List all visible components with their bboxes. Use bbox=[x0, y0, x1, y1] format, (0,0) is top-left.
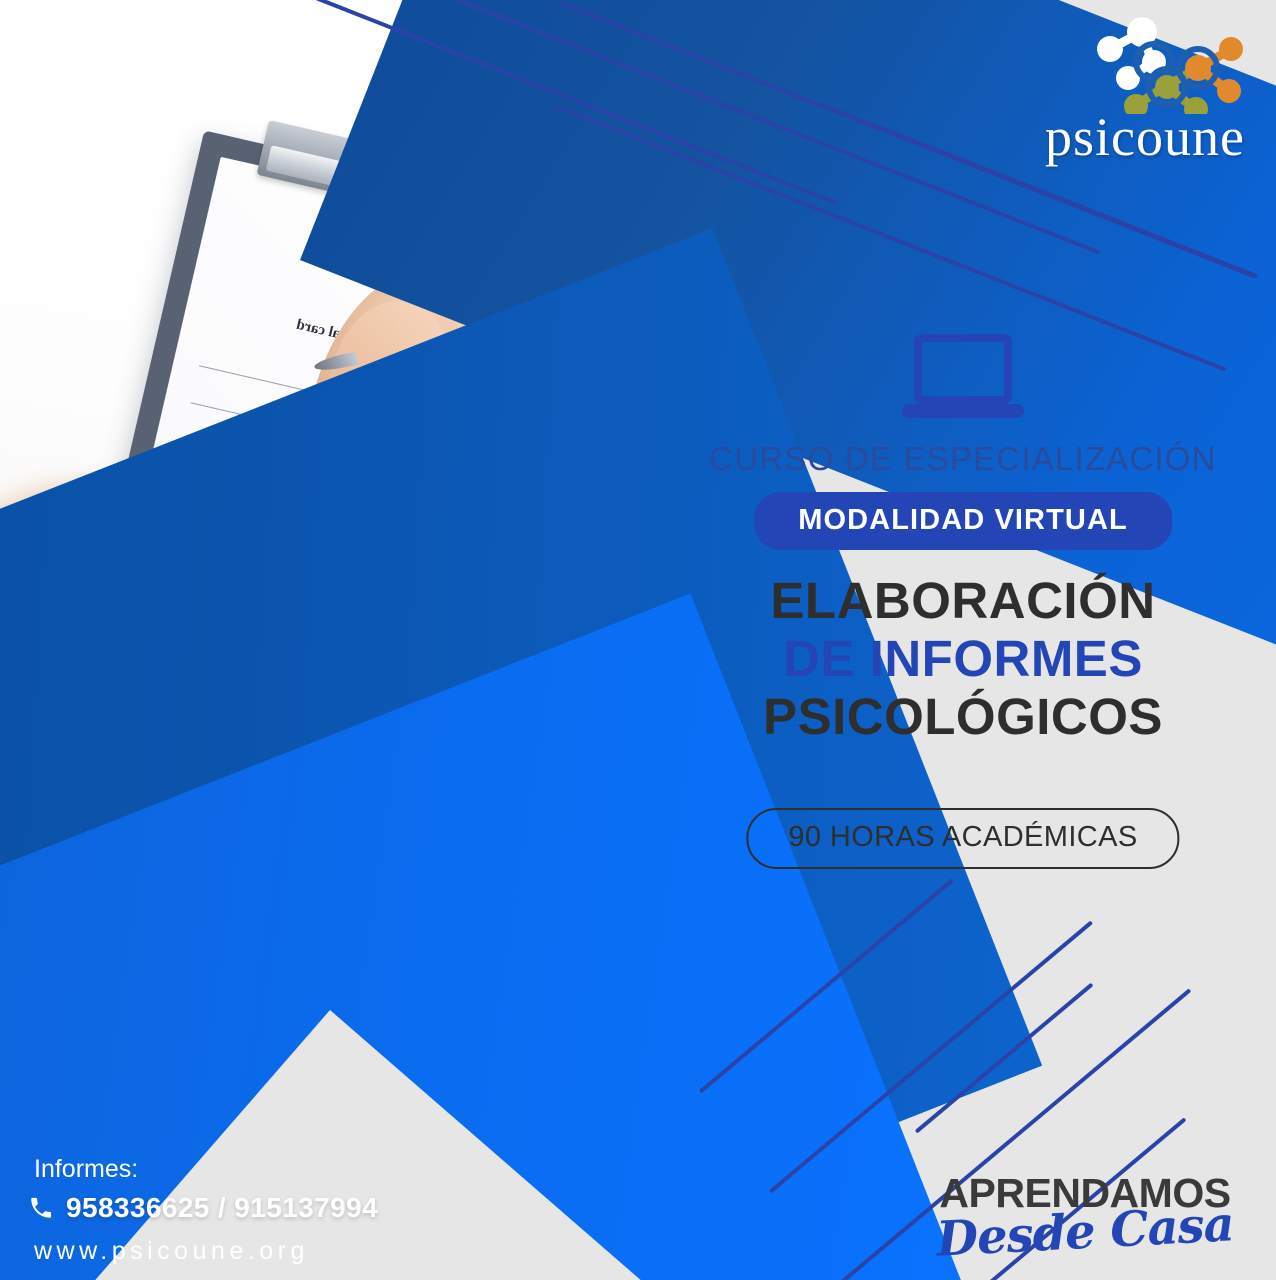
eyebrow-text: CURSO DE ESPECIALIZACIÓN bbox=[650, 440, 1276, 478]
modality-badge: MODALIDAD VIRTUAL bbox=[754, 492, 1172, 550]
tagline: APRENDAMOS Desde Casa bbox=[920, 1170, 1250, 1270]
title-line-3: PSICOLÓGICOS bbox=[650, 688, 1276, 746]
informes-label: Informes: bbox=[34, 1155, 138, 1184]
phone-numbers-text: 958336625 / 915137994 bbox=[66, 1192, 378, 1224]
title-line-1: ELABORACIÓN bbox=[650, 572, 1276, 630]
laptop-icon bbox=[900, 334, 1026, 422]
promotional-flyer: Medical card Name Date of birth Gender A… bbox=[0, 0, 1276, 1280]
title-line-2: DE INFORMES bbox=[650, 630, 1276, 688]
website-url: www.psicoune.org bbox=[34, 1237, 309, 1266]
content-column: CURSO DE ESPECIALIZACIÓN MODALIDAD VIRTU… bbox=[650, 0, 1276, 1280]
hours-badge: 90 HORAS ACADÉMICAS bbox=[746, 808, 1179, 869]
phone-numbers: 958336625 / 915137994 bbox=[28, 1192, 378, 1224]
page-title: ELABORACIÓN DE INFORMES PSICOLÓGICOS bbox=[650, 572, 1276, 746]
phone-icon bbox=[28, 1195, 54, 1221]
